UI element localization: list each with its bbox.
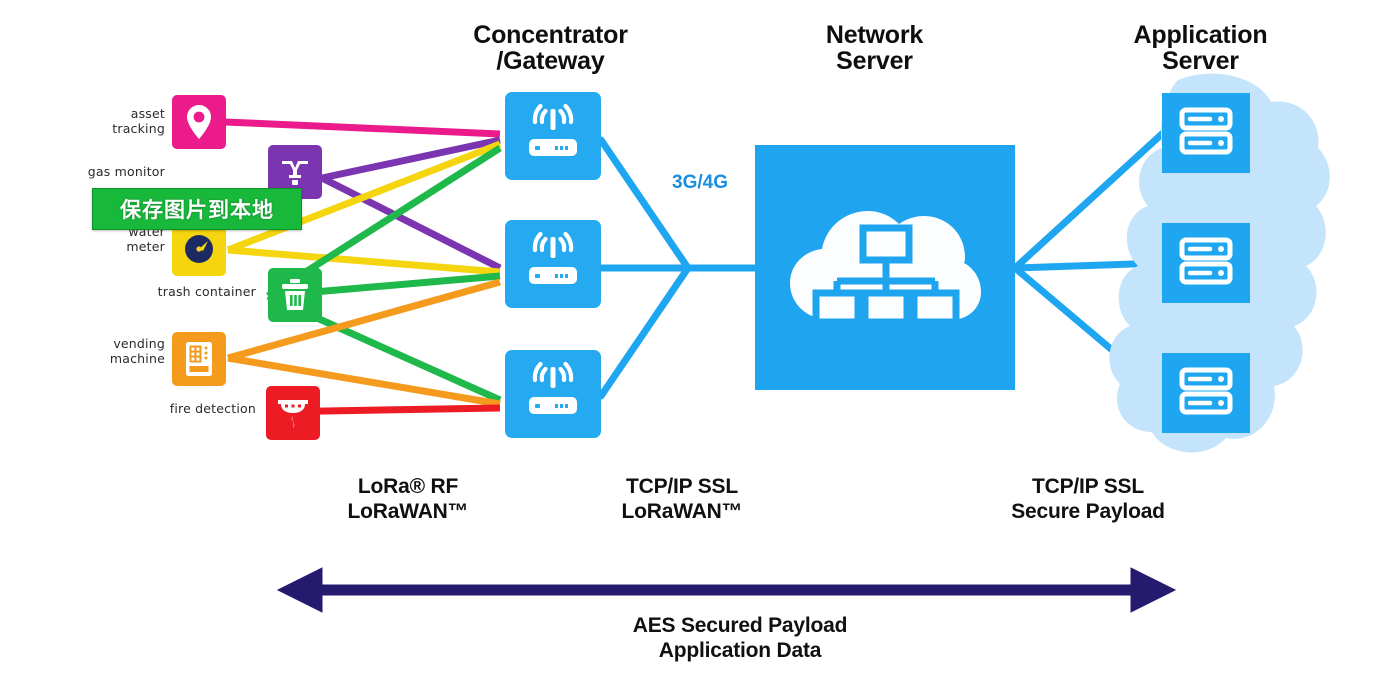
- wifi-router-icon: [521, 231, 585, 298]
- device-vending-machine[interactable]: [172, 332, 226, 386]
- location-pin-icon: [184, 104, 214, 140]
- water-meter-icon: [181, 231, 217, 267]
- protocol-label-tcpip-gateway: TCP/IP SSL LoRaWAN™: [557, 475, 807, 524]
- gateway-2[interactable]: [505, 220, 601, 308]
- link-gas-monitor-gw2: [322, 178, 500, 268]
- cloud-network-icon: [780, 175, 990, 360]
- device-label-vending-machine: vending machine: [50, 337, 165, 367]
- device-label-gas-monitor: gas monitor: [45, 165, 165, 180]
- gateway-1[interactable]: [505, 92, 601, 180]
- protocol-label-lora: LoRa® RF LoRaWAN™: [283, 475, 533, 524]
- device-fire-detection[interactable]: [266, 386, 320, 440]
- device-label-fire-detection: fire detection: [130, 402, 256, 417]
- server-rack-icon: [1177, 105, 1235, 162]
- network-server[interactable]: [755, 145, 1015, 390]
- device-asset-tracking[interactable]: [172, 95, 226, 149]
- device-trash-container[interactable]: [268, 268, 322, 322]
- diagram-canvas: Concentrator /Gateway Network Server App…: [0, 0, 1380, 682]
- backhaul-link-label: 3G/4G: [640, 172, 760, 194]
- smoke-detector-icon: [275, 396, 311, 430]
- link-gas-monitor-gw1: [322, 140, 500, 178]
- vending-machine-icon: [183, 340, 215, 378]
- wifi-router-icon: [521, 361, 585, 428]
- protocol-label-tcpip-appserver: TCP/IP SSL Secure Payload: [960, 475, 1216, 524]
- trash-icon: [279, 278, 311, 312]
- gateway-3[interactable]: [505, 350, 601, 438]
- gas-monitor-icon: [278, 155, 312, 189]
- column-heading-application-server: Application Server: [1068, 22, 1333, 74]
- column-heading-gateway: Concentrator /Gateway: [418, 22, 683, 74]
- aes-payload-caption: AES Secured Payload Application Data: [430, 613, 1050, 663]
- link-asset-tracking-gw1: [225, 122, 500, 134]
- server-rack-icon: [1177, 365, 1235, 422]
- device-label-asset-tracking: asset tracking: [60, 107, 165, 137]
- server-rack-icon: [1177, 235, 1235, 292]
- save-image-watermark[interactable]: 保存图片到本地: [92, 188, 302, 230]
- aes-arrow: [278, 568, 1175, 612]
- device-water-meter[interactable]: [172, 222, 226, 276]
- column-heading-network-server: Network Server: [742, 22, 1007, 74]
- app-server-2[interactable]: [1162, 223, 1250, 303]
- link-gw3-netserver: [601, 268, 688, 396]
- app-server-1[interactable]: [1162, 93, 1250, 173]
- app-server-3[interactable]: [1162, 353, 1250, 433]
- wifi-router-icon: [521, 103, 585, 170]
- device-label-trash-container: trash container: [120, 285, 256, 300]
- link-gw1-netserver: [601, 140, 688, 268]
